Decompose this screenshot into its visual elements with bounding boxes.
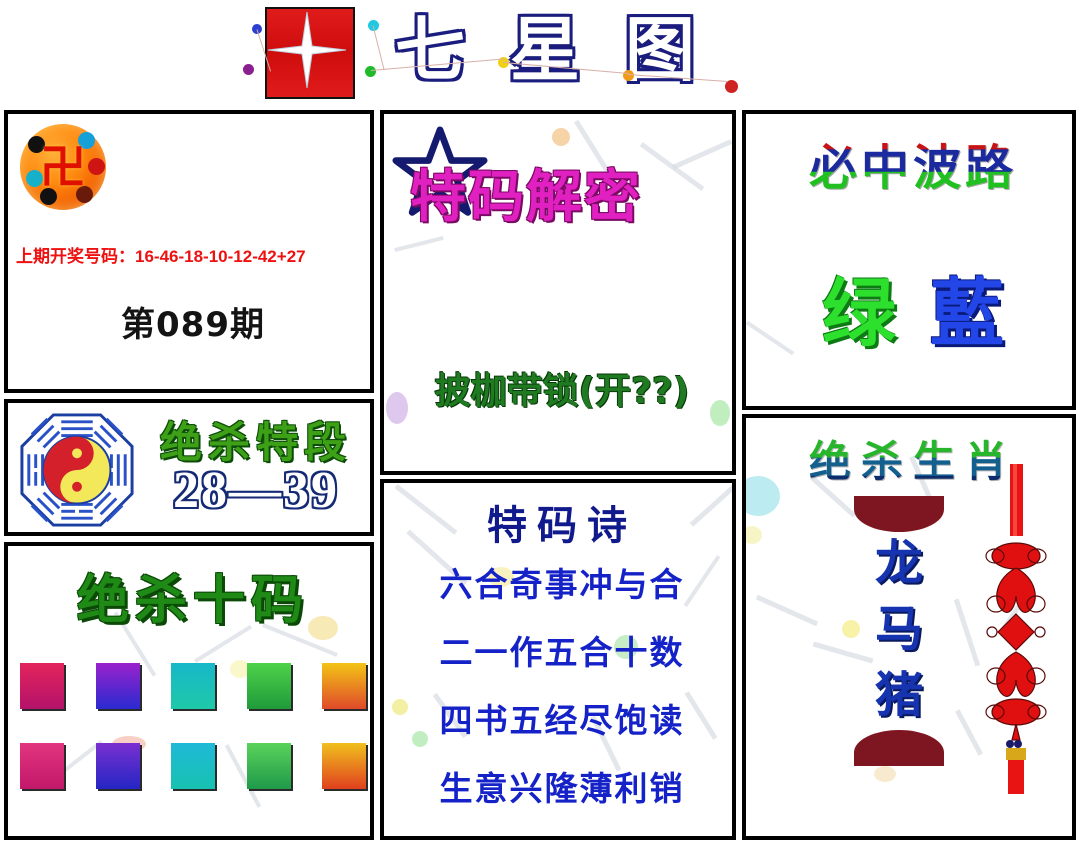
- code-decrypt-subtitle: 披枷带锁(开??): [384, 362, 736, 414]
- lottery-number: 23: [20, 743, 64, 789]
- poem-line: 六合奇事冲与合: [384, 551, 736, 619]
- confetti-dot: [243, 64, 254, 75]
- lottery-number: 35: [96, 743, 140, 789]
- code-poem-panel: 特码诗 六合奇事冲与合 二一作五合十数 四书五经尽饱读 生意兴隆薄利销: [380, 479, 736, 840]
- poster-root: 七 星 图 卍 上期开奖号码：16-: [0, 0, 1080, 844]
- decor-streak: [756, 595, 818, 626]
- decor-bracket-bottom: [854, 730, 944, 766]
- number-row-1: 07 09 21 33 45: [14, 646, 372, 726]
- wave-path-values: 绿藍: [746, 254, 1076, 361]
- zodiac-item: 马: [854, 596, 944, 662]
- issue-number: 第089期: [8, 297, 374, 346]
- kill-zodiac-panel: 绝杀生肖 龙 马 猪: [742, 414, 1076, 840]
- decor-bracket-top: [854, 496, 944, 532]
- code-decrypt-panel: 特码解密 披枷带锁(开??): [380, 110, 736, 475]
- decor-streak: [954, 598, 980, 666]
- bagua-yinyang-icon: [18, 411, 136, 529]
- buddhist-swastika-ball-icon: 卍: [20, 124, 106, 210]
- poem-line: 四书五经尽饱读: [384, 687, 736, 755]
- wave-path-panel: 必中波路 绿藍: [742, 110, 1076, 410]
- decor-streak: [955, 709, 983, 755]
- chinese-knot-icon: [984, 464, 1048, 794]
- confetti-dot: [365, 66, 376, 77]
- lottery-number: 33: [247, 663, 291, 709]
- lottery-number: 21: [171, 663, 215, 709]
- previous-draw-text: 上期开奖号码：16-46-18-10-12-42+27: [16, 242, 374, 267]
- kill-zodiac-values: 龙 马 猪: [854, 530, 944, 728]
- zodiac-item: 猪: [854, 662, 944, 728]
- wave-path-title: 必中波路: [746, 128, 1076, 198]
- lottery-number: 49: [322, 743, 366, 789]
- kill-ten-codes-panel: 绝杀十码 07 09 21 33 45 23 35 47 48 49: [4, 542, 374, 840]
- decor-blob: [874, 766, 896, 782]
- header-char-1: 七: [395, 2, 465, 98]
- header-char-3: 图: [625, 2, 695, 98]
- kill-range-value: 28—39: [138, 461, 374, 520]
- header-char-2: 星: [510, 2, 580, 98]
- confetti-string: [373, 25, 385, 70]
- swastika-glyph: 卍: [20, 124, 106, 210]
- number-row-2: 23 35 47 48 49: [14, 726, 372, 806]
- code-poem-title: 特码诗: [384, 493, 736, 551]
- lottery-number: 48: [247, 743, 291, 789]
- code-decrypt-title: 特码解密: [410, 152, 730, 233]
- poem-line: 二一作五合十数: [384, 619, 736, 687]
- decor-blob: [552, 128, 570, 146]
- kill-ten-codes-title: 绝杀十码: [8, 558, 374, 633]
- decor-blob: [742, 526, 762, 544]
- decor-streak: [394, 236, 443, 252]
- poem-line: 生意兴隆薄利销: [384, 755, 736, 823]
- wave-color-blue: 藍: [930, 271, 1004, 357]
- poster-header: 七 星 图: [0, 0, 1080, 105]
- kill-range-panel: 绝杀特段 28—39: [4, 399, 374, 536]
- wave-color-green: 绿: [822, 271, 896, 357]
- lottery-number: 45: [322, 663, 366, 709]
- header-star-glyph-icon: [264, 6, 350, 94]
- kill-ten-codes-grid: 07 09 21 33 45 23 35 47 48 49: [14, 646, 372, 806]
- code-poem-lines: 六合奇事冲与合 二一作五合十数 四书五经尽饱读 生意兴隆薄利销: [384, 551, 736, 823]
- lottery-number: 07: [20, 663, 64, 709]
- zodiac-item: 龙: [854, 530, 944, 596]
- lottery-number: 47: [171, 743, 215, 789]
- lottery-number: 09: [96, 663, 140, 709]
- draw-info-panel: 卍 上期开奖号码：16-46-18-10-12-42+27 第089期: [4, 110, 374, 393]
- header-inner: 七 星 图: [240, 2, 840, 102]
